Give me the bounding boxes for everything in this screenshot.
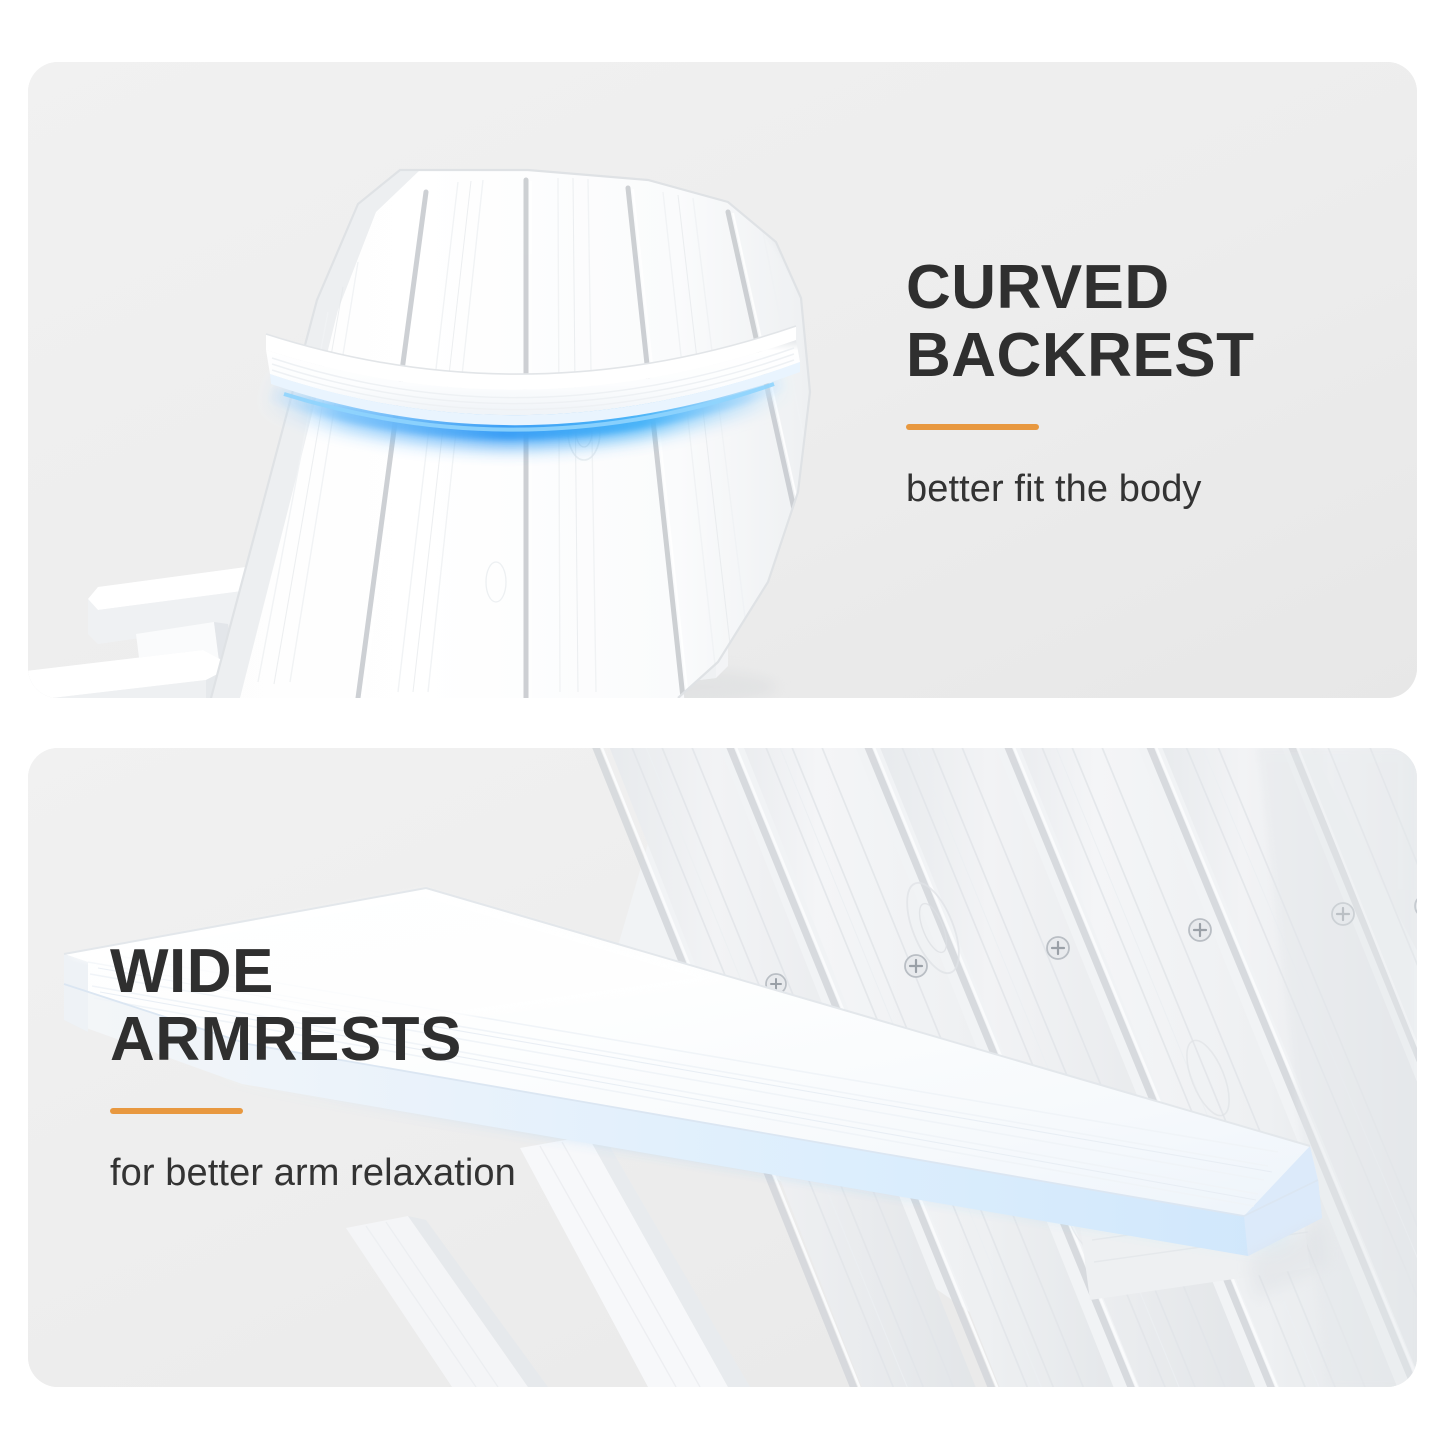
subtitle-curved-backrest: better fit the body <box>906 466 1254 512</box>
subtitle-wide-armrests: for better arm relaxation <box>110 1150 516 1196</box>
copy-block-wide-armrests: WIDE ARMRESTS for better arm relaxation <box>110 938 516 1196</box>
accent-divider-curved-backrest <box>906 424 1039 430</box>
panel-wide-armrests: WIDE ARMRESTS for better arm relaxation <box>28 748 1417 1387</box>
panel-curved-backrest: CURVED BACKREST better fit the body <box>28 62 1417 698</box>
headline-wide-armrests: WIDE ARMRESTS <box>110 938 516 1074</box>
headline-curved-backrest: CURVED BACKREST <box>906 254 1254 390</box>
accent-divider-wide-armrests <box>110 1108 243 1114</box>
feature-panels-page: CURVED BACKREST better fit the body <box>0 0 1445 1445</box>
copy-block-curved-backrest: CURVED BACKREST better fit the body <box>906 254 1254 512</box>
